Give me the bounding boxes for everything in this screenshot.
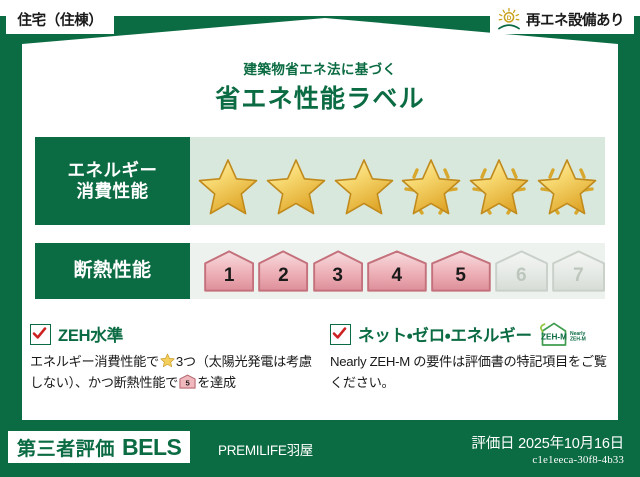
insulation-grade-value: 6 [516,266,527,292]
insulation-grade-value: 3 [332,266,343,292]
star-base [197,157,259,219]
insulation-grade-value: 4 [391,266,402,292]
insulation-grade-badge: 2 [258,250,308,292]
inline-grade-badge-icon: 5 [179,374,196,389]
insulation-grade-value: 5 [455,266,466,292]
achievement-zeh-title: ZEH水準 [58,322,123,346]
checkbox-zeh-level [30,324,51,345]
svg-text:D: D [507,15,512,22]
energy-performance-label: 住宅（住棟） D 再エネ設備あり 建築物省エネ法に基づく 省エネ性能ラベル エネ… [0,0,640,477]
insulation-performance-row: 断熱性能 1234567 [35,243,605,299]
insulation-performance-label: 断熱性能 [35,243,190,299]
achievement-zeh-description: エネルギー消費性能で3つ（太陽光発電は考慮しない）、かつ断熱性能で5を達成 [30,352,320,394]
insulation-grade-area: 1234567 [190,243,605,299]
star-base [333,157,395,219]
insulation-grade-value: 2 [278,266,289,292]
achievement-nze-header: ネット・ゼロ・エネルギー ZEH-M Nearly ZEH-M [330,322,615,346]
label-title: 省エネ性能ラベル [0,79,640,115]
achievement-zeh-level: ZEH水準 エネルギー消費性能で3つ（太陽光発電は考慮しない）、かつ断熱性能で5… [30,322,320,394]
evaluation-date-label: 評価日 [471,436,514,452]
insulation-grade-badge: 3 [313,250,363,292]
insulation-grade-badge: 1 [204,250,254,292]
zeh-desc-part1: エネルギー消費性能で [30,354,159,369]
insulation-grade-badge: 4 [367,250,427,292]
achievement-nze-title: ネット・ゼロ・エネルギー [358,322,532,346]
bels-jp-label: 第三者評価 [17,434,115,461]
insulation-label-text: 断熱性能 [73,259,151,282]
energy-performance-label: エネルギー 消費性能 [35,137,190,225]
achievement-net-zero-energy: ネット・ゼロ・エネルギー ZEH-M Nearly ZEH-M Nearly Z… [330,322,615,394]
zeh-m-logo-icon: ZEH-M Nearly ZEH-M [539,321,595,347]
footer-bar: 第三者評価 BELS PREMILIFE羽屋 評価日 2025年10月16日 c… [0,420,640,477]
check-icon [332,326,347,341]
achievement-nze-description: Nearly ZEH-M の要件は評価書の特記項目をご覧ください。 [330,352,615,394]
evaluation-id: c1e1eeca-30f8-4b33 [532,454,624,466]
insulation-grade-badge: 5 [431,250,491,292]
building-type-tag-label: 住宅（住棟） [17,9,102,30]
building-name: PREMILIFE羽屋 [218,439,313,459]
evaluation-date: 評価日 2025年10月16日 [471,432,624,453]
label-subtitle: 建築物省エネ法に基づく [0,58,640,78]
energy-label-line1: エネルギー [68,160,158,181]
insulation-grade-value: 1 [224,266,235,292]
insulation-grade-strip: 1234567 [190,243,605,299]
energy-label-line2: 消費性能 [77,181,149,202]
insulation-grade-value: 7 [573,266,584,292]
star-solar [468,157,530,219]
bels-certification-box: 第三者評価 BELS [8,431,190,463]
star-solar [536,157,598,219]
renewable-equipment-badge: D 再エネ設備あり [490,4,634,34]
energy-star-area: 太陽光発電(自家消費)分 [190,137,605,225]
energy-performance-row: エネルギー 消費性能 太陽光発電(自家消費)分 [35,137,605,225]
svg-text:ZEH-M: ZEH-M [570,337,586,343]
insulation-grade-badge: 6 [495,250,548,292]
evaluation-date-value: 2025年10月16日 [518,436,624,452]
bels-en-label: BELS [122,434,181,461]
svg-text:ZEH-M: ZEH-M [541,333,567,342]
solar-sun-icon: D [496,7,522,31]
star-rating-strip [190,153,605,223]
achievement-zeh-header: ZEH水準 [30,322,320,346]
check-icon [32,326,47,341]
building-type-tag: 住宅（住棟） [6,4,114,34]
insulation-grade-badge: 7 [552,250,605,292]
checkbox-net-zero-energy [330,324,351,345]
inline-star-icon [160,353,175,368]
renewable-badge-label: 再エネ設備あり [526,9,624,30]
star-solar [400,157,462,219]
zeh-desc-part3: を達成 [197,375,236,390]
star-base [265,157,327,219]
